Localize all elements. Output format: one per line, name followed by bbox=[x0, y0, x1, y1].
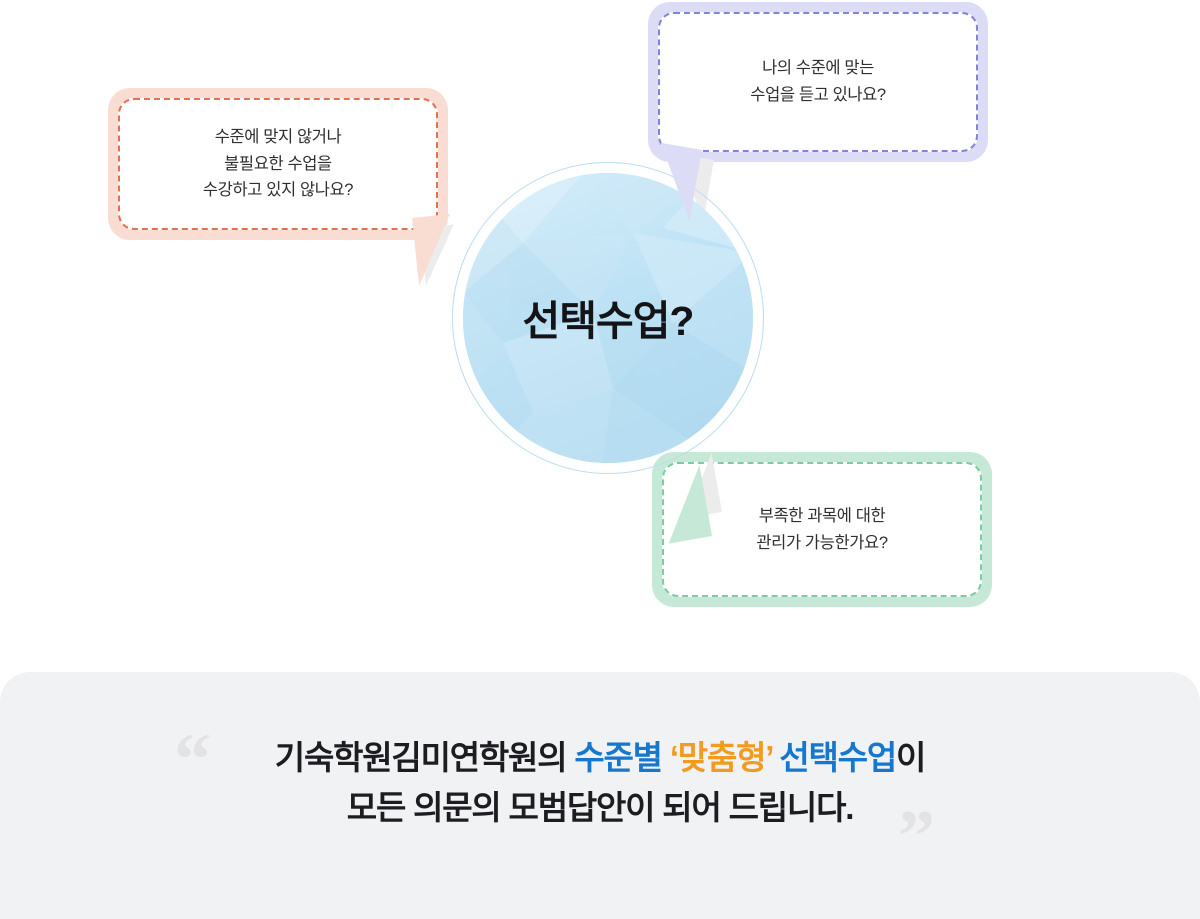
center-circle: 선택수업? bbox=[452, 162, 764, 474]
infographic-stage: 선택수업? 수준에 맞지 않거나 불필요한 수업을 수강하고 있지 않나요? 나… bbox=[0, 0, 1200, 919]
banner-line1-part1: 기숙학원김미연학원의 bbox=[275, 739, 575, 776]
pink-bubble-inner: 수준에 맞지 않거나 불필요한 수업을 수강하고 있지 않나요? bbox=[118, 98, 438, 230]
purple-bubble-inner: 나의 수준에 맞는 수업을 듣고 있나요? bbox=[658, 12, 978, 152]
green-bubble-text: 부족한 과목에 대한 관리가 가능한가요? bbox=[756, 503, 887, 556]
bubble-purple: 나의 수준에 맞는 수업을 듣고 있나요? bbox=[648, 2, 988, 162]
quote-close-icon: ” bbox=[898, 800, 935, 874]
page-title: 선택수업? bbox=[452, 162, 764, 474]
quote-open-icon: “ bbox=[174, 723, 211, 797]
bubble-pink: 수준에 맞지 않거나 불필요한 수업을 수강하고 있지 않나요? bbox=[108, 88, 448, 240]
banner-line1-part5: 이 bbox=[896, 739, 925, 776]
pink-bubble-tail bbox=[412, 214, 457, 286]
banner-line1-highlight-blue-1: 수준별 bbox=[574, 739, 669, 776]
pink-bubble-text: 수준에 맞지 않거나 불필요한 수업을 수강하고 있지 않나요? bbox=[203, 124, 353, 204]
banner-line1-highlight-blue-2: 선택수업 bbox=[772, 739, 896, 776]
purple-bubble-text: 나의 수준에 맞는 수업을 듣고 있나요? bbox=[750, 55, 885, 108]
banner-line1-highlight-orange: ‘맞춤형’ bbox=[670, 739, 773, 776]
banner-line-2: 모든 의문의 모범답안이 되어 드립니다. bbox=[347, 786, 853, 830]
banner-line-1: 기숙학원김미연학원의 수준별 ‘맞춤형’ 선택수업이 bbox=[275, 736, 925, 780]
